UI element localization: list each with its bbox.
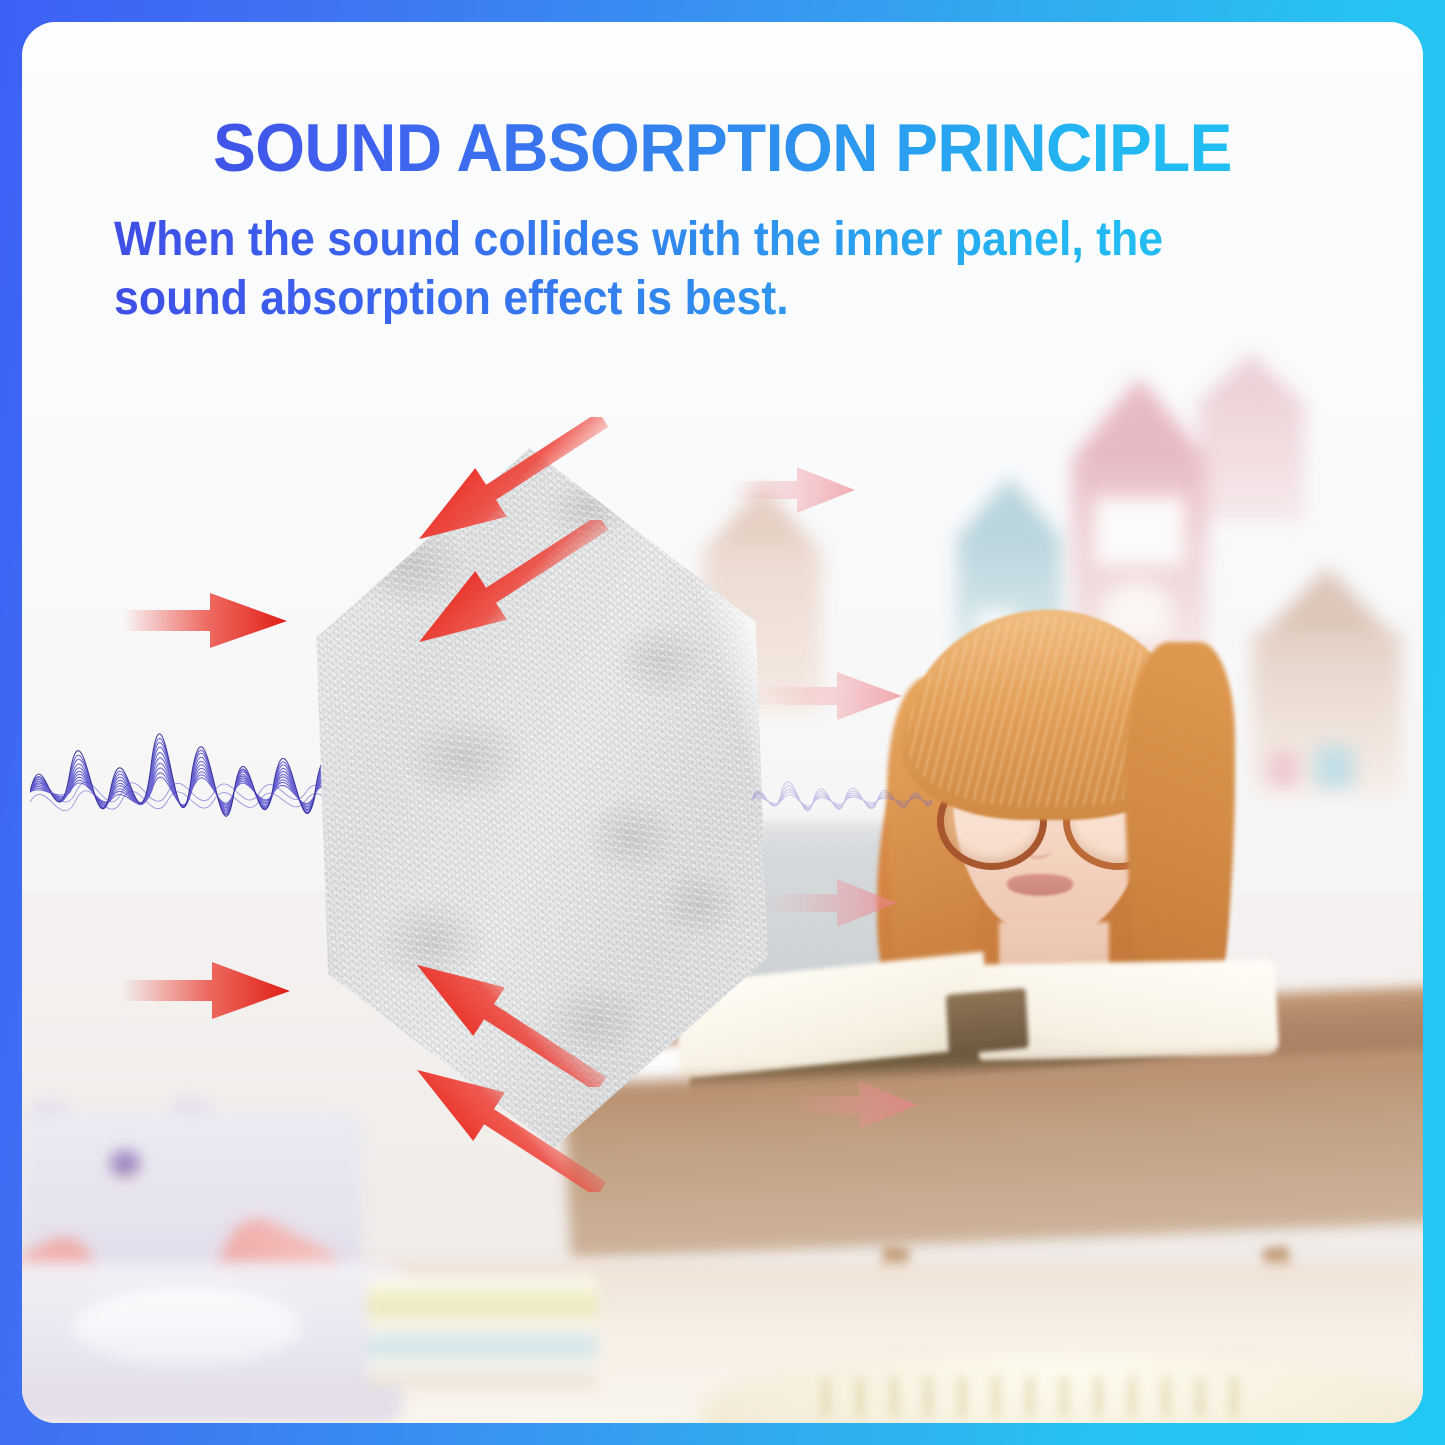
page-title: SOUND ABSORPTION PRINCIPLE: [64, 114, 1381, 182]
transmitted-sound-wave: [752, 740, 932, 860]
arrow-incident-2: [122, 957, 290, 1023]
arrow-reflected-lower-2: [390, 1062, 620, 1192]
arrow-transmitted-2: [757, 667, 902, 725]
poster-inner: SOUND ABSORPTION PRINCIPLE When the soun…: [22, 22, 1423, 1423]
book-stack: [367, 1277, 597, 1387]
arrow-incident-1: [122, 588, 287, 652]
book-spine: [946, 988, 1029, 1055]
poster-frame: SOUND ABSORPTION PRINCIPLE When the soun…: [0, 0, 1445, 1445]
shelf-house-wood: [1252, 567, 1402, 797]
mouth: [1007, 874, 1073, 896]
shelf-house-small: [1197, 352, 1305, 522]
arrow-reflected-upper-2: [392, 520, 622, 650]
arrow-transmitted-4: [787, 1077, 917, 1133]
rug-pattern: [822, 1377, 1242, 1417]
page-subtitle: When the sound collides with the inner p…: [114, 210, 1297, 328]
